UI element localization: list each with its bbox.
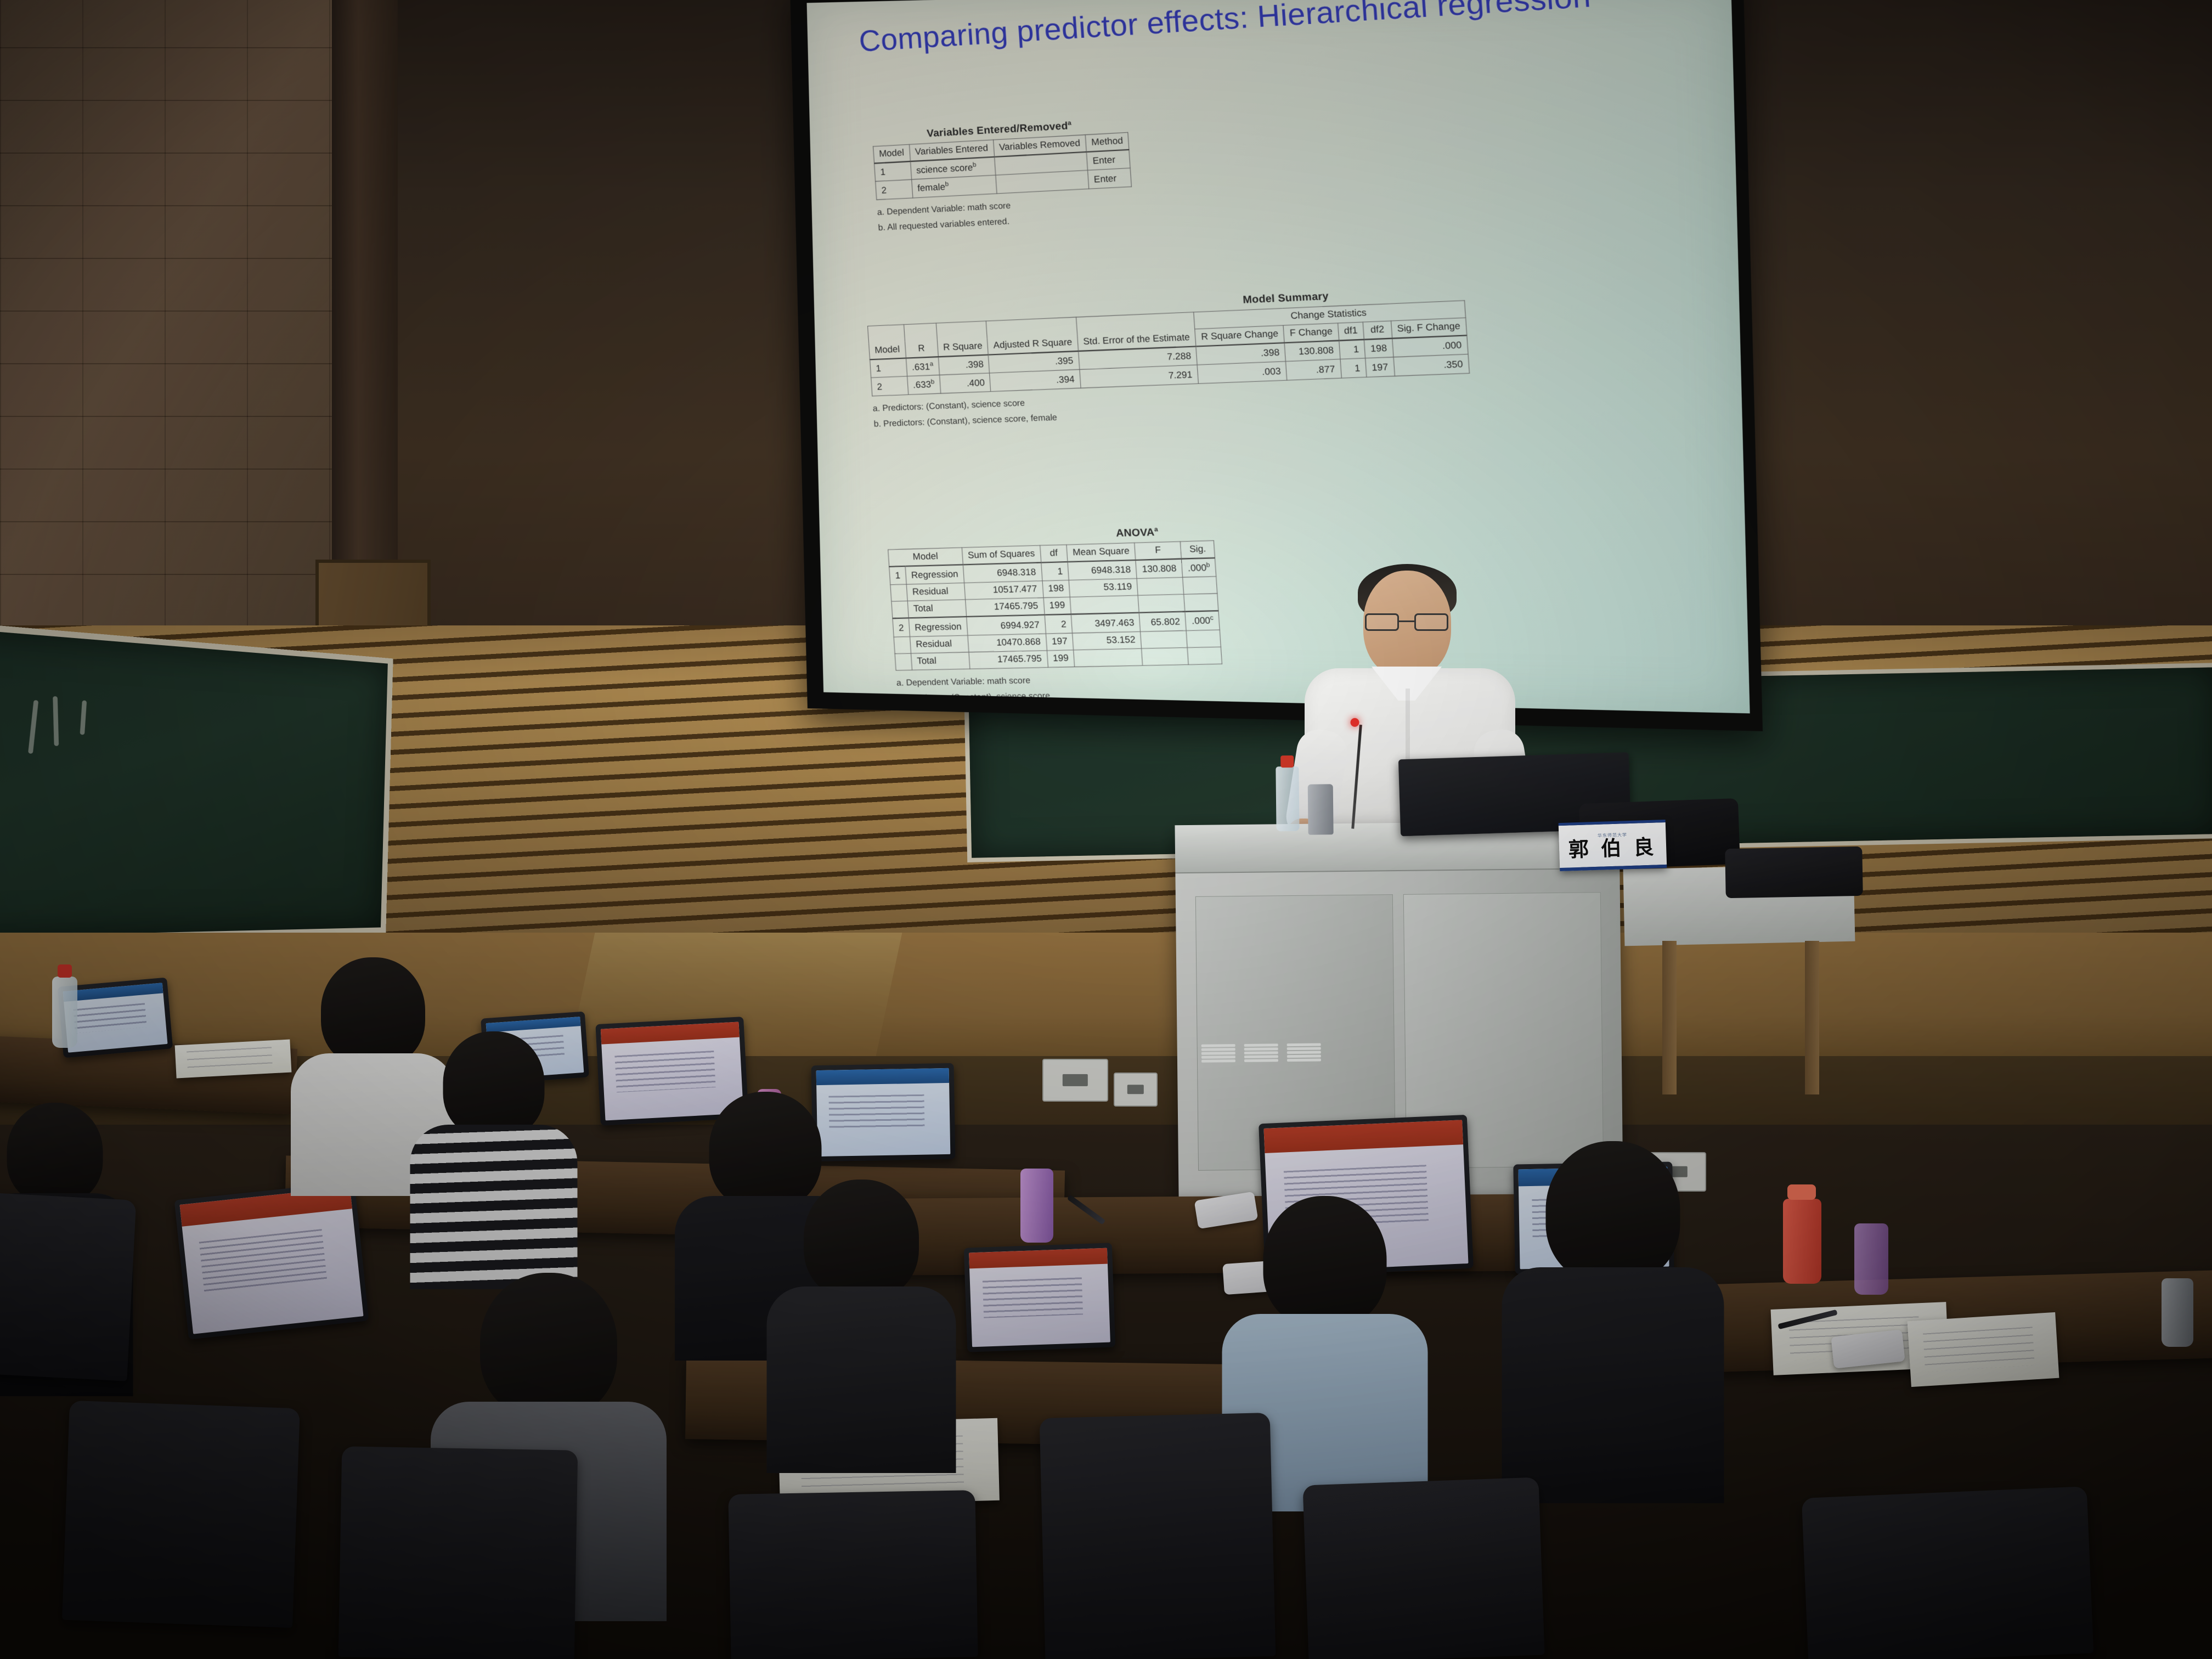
cell-source: Total xyxy=(907,600,966,618)
auditorium-chair[interactable] xyxy=(1302,1477,1544,1659)
auditorium-chair[interactable] xyxy=(1040,1413,1276,1659)
presenter-name: 郭 伯 良 xyxy=(1568,837,1657,860)
cell-mean-square: 3497.463 xyxy=(1071,613,1141,633)
col-df: df xyxy=(1040,545,1068,563)
table-caption: ANOVAa xyxy=(1061,524,1214,541)
cell-model: 2 xyxy=(876,180,913,200)
cell-superscript: b xyxy=(1206,562,1210,569)
cell-r: .633b xyxy=(907,375,940,394)
cell-mean-square: 53.152 xyxy=(1073,631,1142,650)
table-anova: ANOVAa Model Sum of Squares df Mean Squa… xyxy=(887,524,1226,713)
wall-power-outlet[interactable] xyxy=(1114,1073,1158,1107)
cell-mean-square: 6948.318 xyxy=(1068,560,1137,580)
col-f-change: F Change xyxy=(1283,323,1339,343)
cell-sum-of-squares: 10517.477 xyxy=(964,581,1043,600)
cell-df: 199 xyxy=(1043,597,1071,615)
cell-df1: 1 xyxy=(1340,358,1367,378)
water-bottle xyxy=(1783,1199,1821,1284)
cell-sig xyxy=(1186,630,1221,647)
cell-model xyxy=(895,653,912,670)
water-bottle xyxy=(1276,766,1299,831)
cell-mean-square xyxy=(1070,596,1139,614)
student-laptop[interactable] xyxy=(964,1243,1115,1352)
cell-mean-square: 53.119 xyxy=(1069,579,1138,597)
slide-content: Comparing predictor effects: Hierarchica… xyxy=(807,0,1750,713)
col-sig: Sig. xyxy=(1180,540,1215,558)
cell-sum-of-squares: 10470.868 xyxy=(968,634,1047,652)
auditorium-chair[interactable] xyxy=(62,1401,300,1628)
cell-superscript: b xyxy=(973,161,977,168)
presenter-name-placard: 华东师范大学 郭 伯 良 xyxy=(1559,820,1667,871)
col-r-square: R Square xyxy=(936,321,989,357)
audience-member xyxy=(1503,1141,1723,1492)
cell-sig-f-change: .350 xyxy=(1393,354,1470,376)
cell-f: 65.802 xyxy=(1139,612,1187,631)
cell-source: Total xyxy=(911,652,969,670)
cell-source: Regression xyxy=(905,565,964,584)
thermos-flask xyxy=(1308,784,1334,834)
projection-screen: Comparing predictor effects: Hierarchica… xyxy=(790,0,1763,731)
cell-df2: 197 xyxy=(1365,357,1395,377)
cell-sig xyxy=(1184,594,1219,612)
cell-method: Enter xyxy=(1088,168,1132,189)
cell-f-change: .877 xyxy=(1286,359,1341,380)
cell-std-error: 7.291 xyxy=(1080,365,1199,388)
cell-source: Regression xyxy=(909,617,968,636)
col-model: Model xyxy=(888,548,963,567)
spss-table: Model Variables Entered Variables Remove… xyxy=(873,132,1132,200)
cell-mean-square xyxy=(1074,648,1143,667)
footnote: c. Predictors: (Constant), science score… xyxy=(898,701,1226,713)
table-leg xyxy=(1805,941,1819,1094)
auditorium-chair[interactable] xyxy=(0,1192,136,1381)
cell-df: 2 xyxy=(1045,614,1073,634)
microphone-led-icon xyxy=(1350,718,1359,727)
cell-r-square-change: .003 xyxy=(1198,362,1288,383)
projection-surface: Comparing predictor effects: Hierarchica… xyxy=(807,0,1750,713)
cell-model xyxy=(894,636,911,653)
col-std-error: Std. Error of the Estimate xyxy=(1076,312,1196,351)
cell-r-square: .398 xyxy=(938,355,990,375)
cell-source: Residual xyxy=(910,635,968,653)
col-r: R xyxy=(904,323,938,358)
cell-sig-f-change: .000 xyxy=(1392,335,1468,357)
open-notebook xyxy=(175,1040,292,1079)
table-footnotes: a. Dependent Variable: math score b. All… xyxy=(877,191,1135,236)
wall-power-outlet[interactable] xyxy=(1042,1059,1108,1102)
cell-f xyxy=(1138,595,1186,613)
cell-df: 197 xyxy=(1046,633,1074,651)
table-footnotes: a. Dependent Variable: math score b. Pre… xyxy=(896,669,1226,713)
cell-sig xyxy=(1183,577,1217,595)
handout-papers xyxy=(1908,1312,2059,1387)
thermos-flask xyxy=(2162,1278,2193,1347)
cell-superscript: a xyxy=(929,360,933,368)
university-crest-text: 华东师范大学 xyxy=(1598,832,1627,839)
cell-model: 2 xyxy=(893,618,910,637)
cell-method: Enter xyxy=(1086,150,1130,171)
table-leg xyxy=(1662,941,1677,1094)
cell-f xyxy=(1137,578,1183,596)
col-adjusted-r-square: Adjusted R Square xyxy=(986,317,1079,355)
cell-r: .631a xyxy=(906,357,939,376)
col-df1: df1 xyxy=(1338,322,1364,341)
cell-r-square: .400 xyxy=(939,373,991,393)
cell-superscript: b xyxy=(945,181,949,188)
audience-member xyxy=(768,1180,955,1465)
cell-sum-of-squares: 17465.795 xyxy=(965,598,1044,617)
col-f: F xyxy=(1135,541,1181,560)
cell-sum-of-squares: 6994.927 xyxy=(967,615,1046,635)
cell-model: 2 xyxy=(871,376,909,396)
cell-model: 1 xyxy=(889,566,906,585)
col-df2: df2 xyxy=(1363,321,1392,340)
cell-f-change: 130.808 xyxy=(1285,341,1340,362)
cell-f xyxy=(1141,630,1188,648)
caption-superscript: a xyxy=(1154,526,1159,533)
student-laptop[interactable] xyxy=(174,1181,369,1339)
chalkboard-left xyxy=(0,620,393,945)
cell-source: Residual xyxy=(906,583,965,601)
cell-adjusted-r-square: .394 xyxy=(990,370,1081,391)
col-mean-square: Mean Square xyxy=(1066,543,1136,562)
water-bottle xyxy=(1020,1169,1053,1243)
cell-df1: 1 xyxy=(1339,340,1365,359)
cell-sum-of-squares: 17465.795 xyxy=(969,650,1048,669)
glasses-icon xyxy=(1364,613,1451,632)
cell-model: 1 xyxy=(870,358,907,378)
col-model: Model xyxy=(873,144,911,163)
cell-f xyxy=(1142,647,1189,665)
cell-superscript: c xyxy=(1210,614,1214,622)
col-model: Model xyxy=(868,325,906,360)
spss-table: Model Sum of Squares df Mean Square F Si… xyxy=(888,540,1222,670)
auditorium-chair[interactable] xyxy=(1802,1486,2093,1659)
cell-model xyxy=(891,601,909,619)
water-bottle xyxy=(52,977,77,1048)
cell-model: 1 xyxy=(874,161,912,182)
cell-sig: .000b xyxy=(1182,558,1217,578)
cell-sig xyxy=(1187,647,1222,664)
table-model-summary: Model Summary Model R R Square Adjusted … xyxy=(866,284,1472,433)
podium-vents xyxy=(1201,1043,1350,1116)
slide-title: Comparing predictor effects: Hierarchica… xyxy=(858,0,1721,59)
left-wall-panel xyxy=(0,0,335,680)
water-bottle xyxy=(1854,1223,1888,1295)
table-variables-entered-removed: Variables Entered/Removeda Model Variabl… xyxy=(872,116,1135,236)
cell-df: 198 xyxy=(1042,580,1070,598)
caption-superscript: a xyxy=(1068,120,1072,127)
cell-sum-of-squares: 6948.318 xyxy=(963,562,1042,583)
second-bag xyxy=(1725,847,1863,898)
auditorium-chair[interactable] xyxy=(338,1446,578,1659)
col-sum-of-squares: Sum of Squares xyxy=(962,545,1041,565)
auditorium-chair[interactable] xyxy=(728,1490,978,1659)
cell-f: 130.808 xyxy=(1136,559,1183,579)
chalk-marks xyxy=(24,691,112,769)
audience-member xyxy=(411,1031,576,1278)
cell-df2: 198 xyxy=(1364,338,1393,358)
cell-df: 199 xyxy=(1047,650,1075,667)
cell-df: 1 xyxy=(1041,562,1069,581)
cell-model xyxy=(890,584,907,601)
cell-sig: .000c xyxy=(1185,611,1220,630)
col-method: Method xyxy=(1085,132,1129,152)
cell-entered: femaleb xyxy=(911,176,996,198)
lecture-hall-scene: Comparing predictor effects: Hierarchica… xyxy=(0,0,2212,1659)
cell-superscript: b xyxy=(930,379,934,386)
